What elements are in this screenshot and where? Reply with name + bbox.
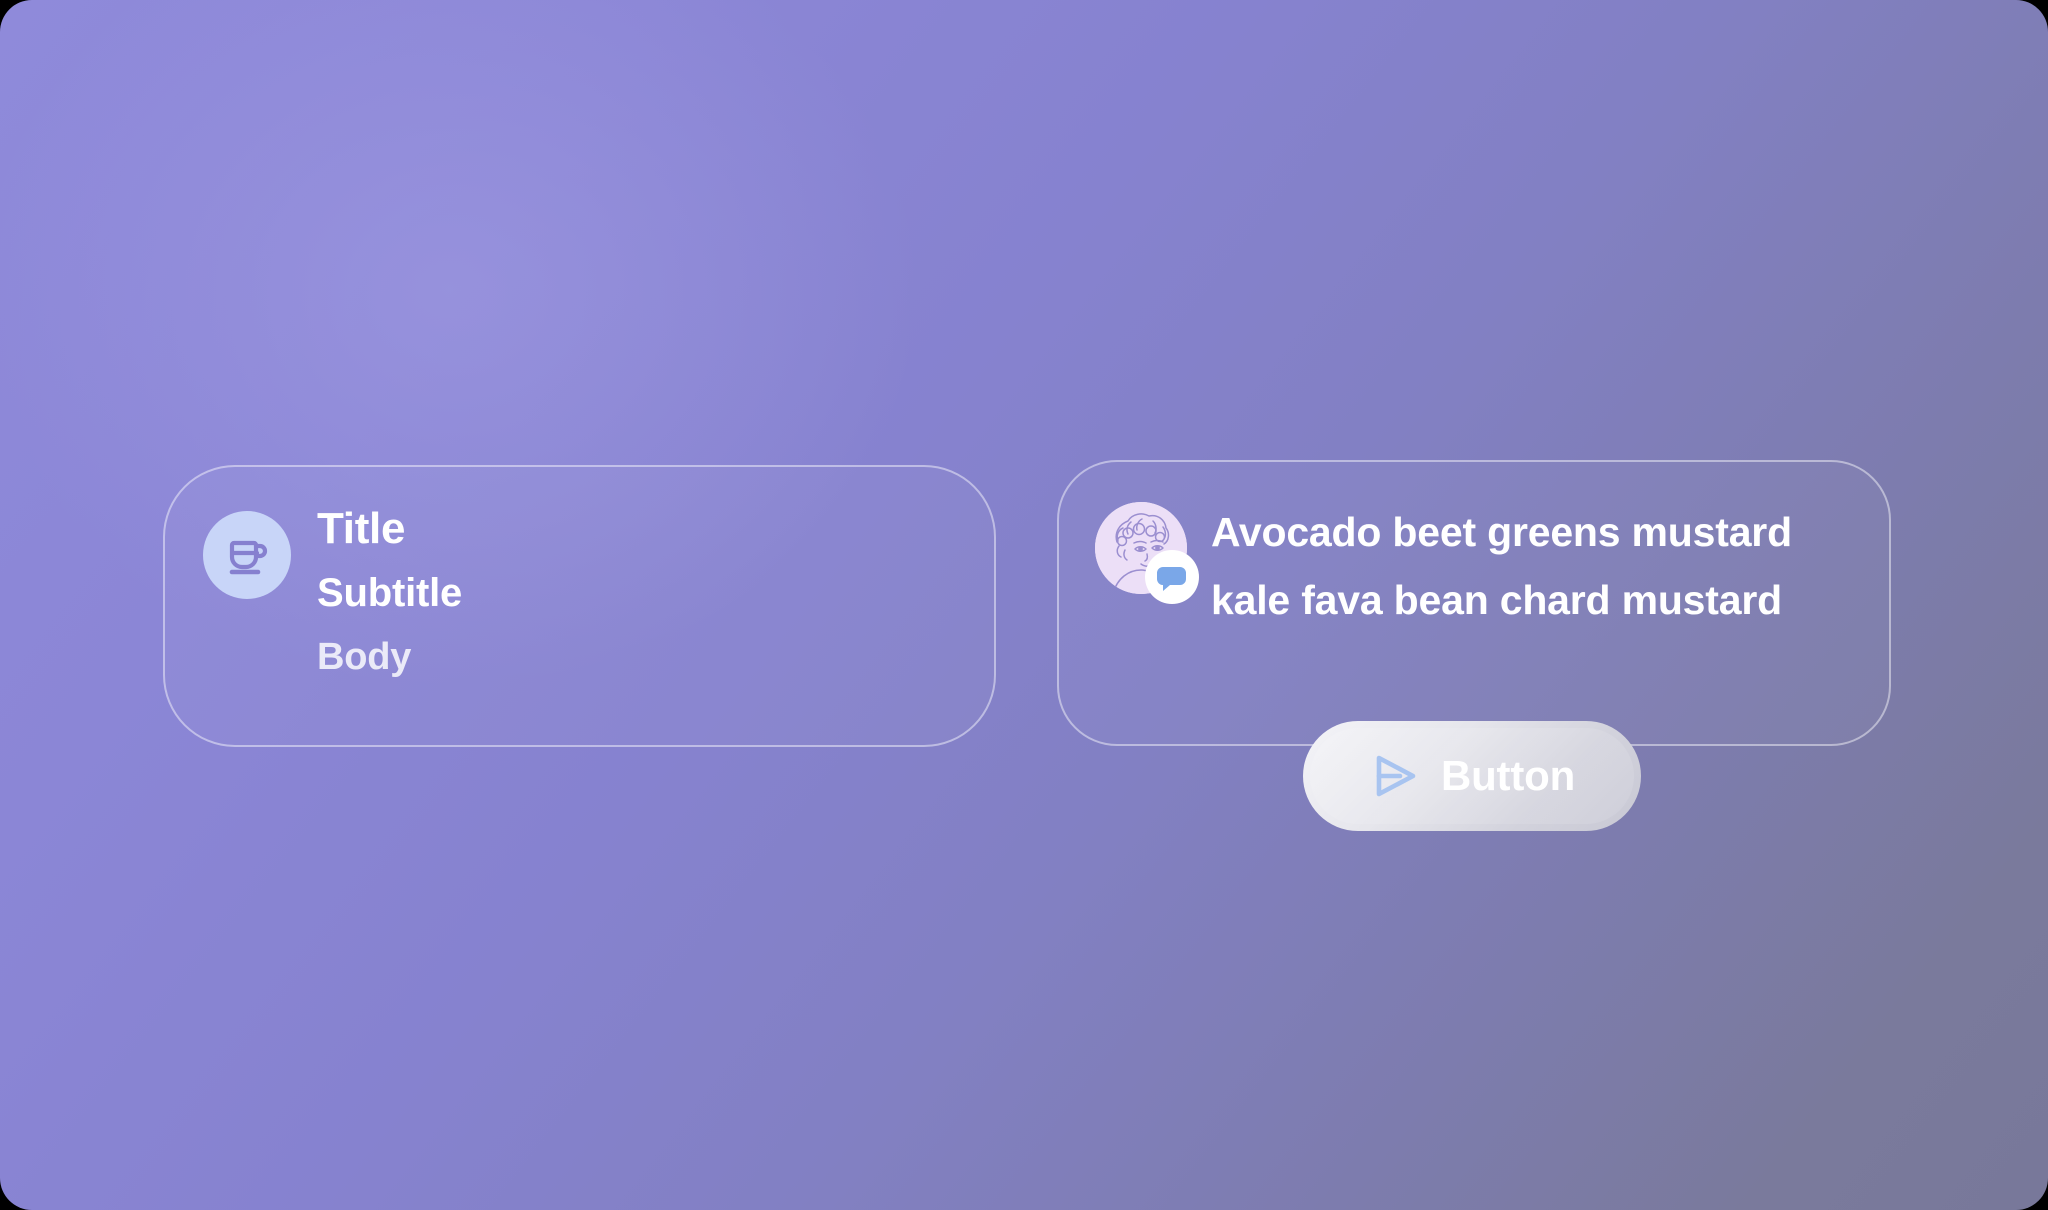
card-title: Title (317, 507, 462, 551)
info-card-left[interactable]: Title Subtitle Body (163, 465, 996, 747)
coffee-cup-icon (203, 511, 291, 599)
chat-bubble-badge (1145, 550, 1199, 604)
send-button-label: Button (1441, 752, 1575, 800)
left-card-text-block: Title Subtitle Body (317, 507, 462, 676)
send-button[interactable]: Button (1303, 721, 1641, 831)
card-body: Body (317, 638, 462, 676)
avatar (1095, 502, 1187, 594)
send-icon (1369, 750, 1421, 802)
card-subtitle: Subtitle (317, 573, 462, 613)
app-canvas: Title Subtitle Body (0, 0, 2048, 1210)
card-description: Avocado beet greens mustard kale fava be… (1211, 498, 1821, 634)
info-card-right[interactable]: Avocado beet greens mustard kale fava be… (1057, 460, 1891, 746)
